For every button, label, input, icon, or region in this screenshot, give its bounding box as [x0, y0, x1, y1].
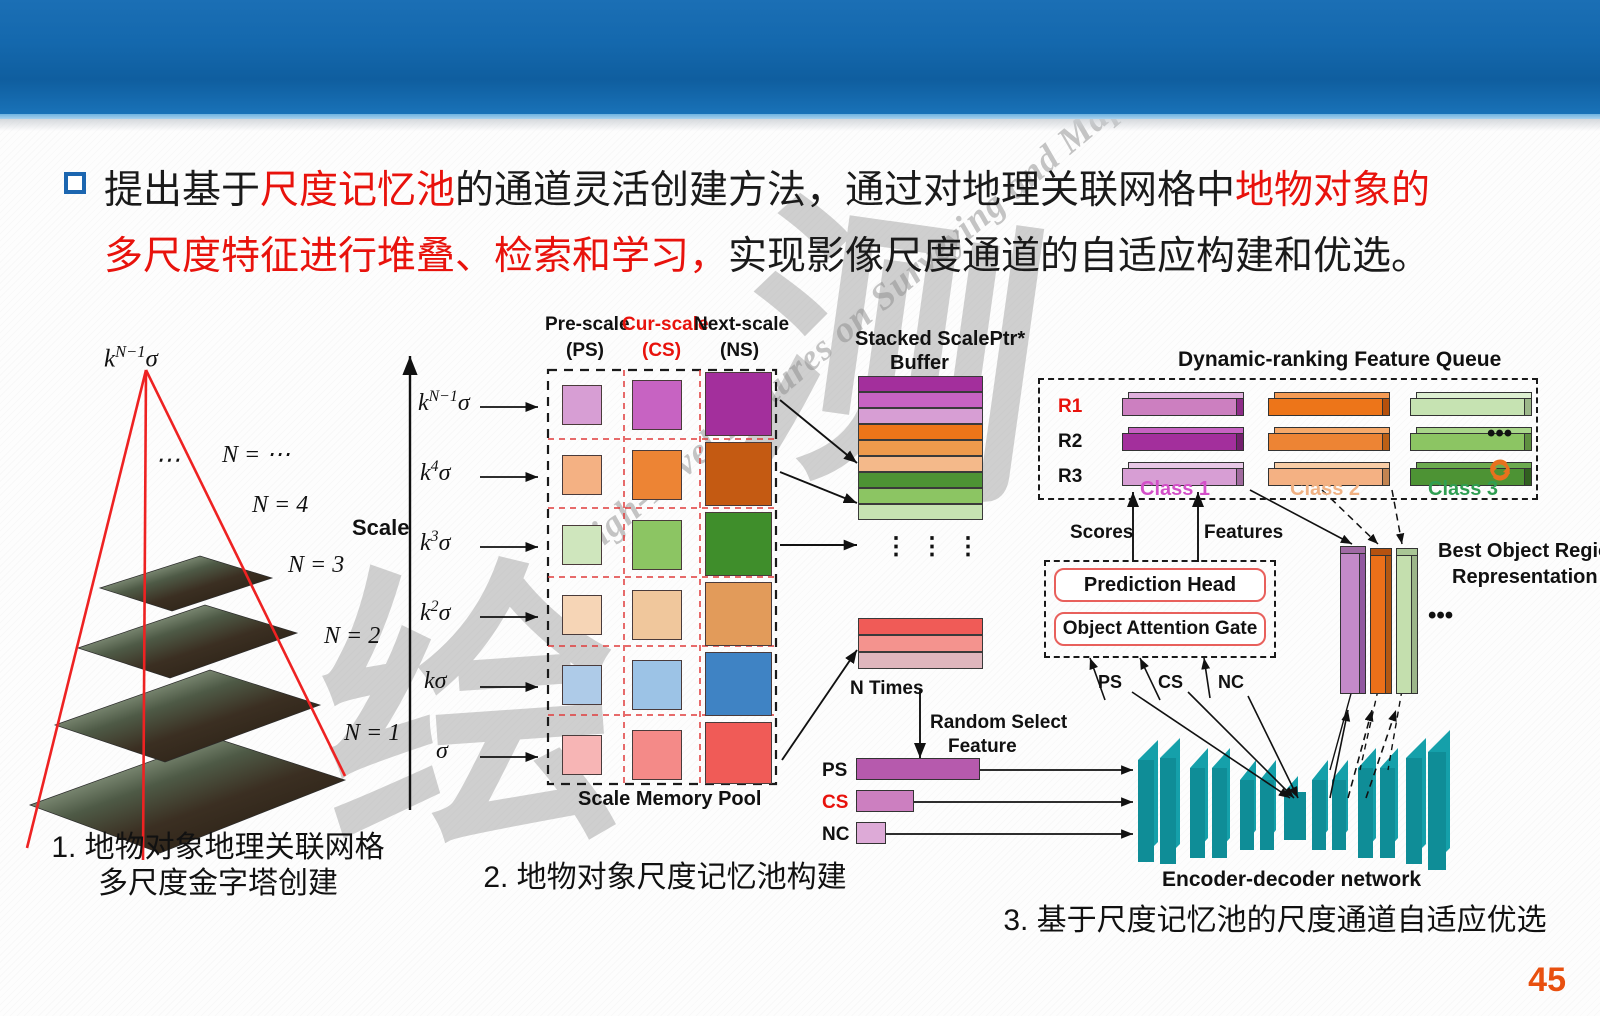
object-attention-gate-button[interactable]: Object Attention Gate: [1054, 612, 1266, 646]
refresh-icon[interactable]: [1485, 455, 1515, 485]
feature-queue-title: Dynamic-ranking Feature Queue: [1178, 348, 1501, 372]
title-bar-accent-line: [0, 114, 1600, 119]
buffer-bottom-stripe-1: [858, 635, 983, 652]
channel-bar-ps: [856, 758, 980, 780]
queue-bar-c1-r1: [1122, 392, 1244, 416]
buffer-stripe-3: [858, 424, 983, 440]
queue-rank-label-r2: R2: [1058, 431, 1082, 453]
best-region-title-line2: Representation: [1452, 566, 1598, 589]
body-seg-2: 尺度记忆池: [260, 169, 455, 212]
body-seg-3: 的通道灵活创建方法，通过对地理关联网格中: [455, 169, 1235, 212]
pool-cell-ps-5: [562, 735, 602, 775]
body-seg-6: 实现影像尺度通道的自适应构建和优选。: [728, 235, 1430, 278]
buffer-ellipsis-2: ⋮: [920, 532, 946, 561]
queue-bar-c2-r1: [1268, 392, 1390, 416]
body-seg-4: 地物对象的: [1235, 169, 1430, 212]
pool-cell-ns-5: [705, 722, 772, 784]
scale-axis-title: Scale: [352, 515, 410, 541]
pool-cell-ps-0: [562, 385, 602, 425]
buffer-stripe-8: [858, 504, 983, 520]
prediction-head-button[interactable]: Prediction Head: [1054, 568, 1266, 602]
scale-tick-5: σ: [436, 738, 448, 765]
queue-class-label-2: Class 2: [1290, 478, 1360, 501]
best-region-title-line1: Best Object Region: [1438, 540, 1600, 563]
queue-bar-c2-r2: [1268, 427, 1390, 451]
buffer-stripe-6: [858, 472, 983, 488]
features-label: Features: [1204, 522, 1283, 544]
pool-cell-ps-4: [562, 665, 602, 705]
pool-cell-cs-3: [632, 590, 682, 640]
slide-root: 测 绘 High-Level Lectures on Surveying and…: [0, 0, 1600, 1016]
queue-bar-c3-r1: [1410, 392, 1532, 416]
queue-more-dots: •••: [1487, 420, 1512, 448]
channel-label-nc: NC: [822, 824, 849, 846]
pool-cell-ps-1: [562, 455, 602, 495]
buffer-title-line2: Buffer: [890, 352, 949, 375]
pyramid-apex-label: kN−1σ: [104, 342, 158, 373]
pyramid-level-label-0: N = ⋯: [222, 440, 290, 469]
attention-input-label-cs: CS: [1158, 672, 1183, 693]
scale-tick-0: kN−1σ: [418, 388, 470, 417]
page-number: 45: [1528, 961, 1566, 1000]
buffer-stripe-4: [858, 440, 983, 456]
pool-cell-ns-0: [705, 372, 772, 436]
channel-label-cs: CS: [822, 792, 848, 814]
pyramid-level-label-1: N = 4: [252, 492, 308, 519]
pool-cell-ns-3: [705, 582, 772, 646]
queue-bar-c3-r2: [1410, 427, 1532, 451]
scale-tick-arrows: [480, 407, 538, 757]
pyramid-ellipsis: ⋯: [155, 445, 180, 475]
bullet-block: 提出基于尺度记忆池的通道灵活创建方法，通过对地理关联网格中地物对象的 多尺度特征…: [56, 158, 1556, 290]
pyramid-level-label-3: N = 2: [324, 623, 380, 650]
buffer-ellipsis-1: ⋮: [884, 532, 910, 561]
buffer-stripe-5: [858, 456, 983, 472]
n-times-label: N Times: [850, 678, 924, 700]
pyramid-group: [27, 370, 345, 860]
queue-rank-label-r1: R1: [1058, 396, 1082, 418]
queue-class-label-1: Class 1: [1140, 478, 1210, 501]
network-label: Encoder-decoder network: [1162, 868, 1421, 892]
body-seg-1: 提出基于: [104, 169, 260, 212]
buffer-bottom-stripe-0: [858, 618, 983, 635]
encoder-decoder-network: [1138, 730, 1450, 870]
caption-3-line1: 3. 基于尺度记忆池的尺度通道自适应优选: [955, 895, 1595, 939]
best-region-more-dots: •••: [1428, 602, 1453, 630]
body-seg-5: 多尺度特征进行堆叠、检索和学习，: [104, 235, 728, 278]
buffer-bottom-stripe-2: [858, 652, 983, 669]
pool-cell-cs-2: [632, 520, 682, 570]
pyramid-level-label-2: N = 3: [288, 552, 344, 579]
body-line-1: 提出基于尺度记忆池的通道灵活创建方法，通过对地理关联网格中地物对象的: [56, 158, 1556, 224]
pool-cell-cs-1: [632, 450, 682, 500]
pool-cell-ns-4: [705, 652, 772, 716]
best-region-bar-2: [1396, 548, 1418, 694]
random-select-line1: Random Select: [930, 712, 1067, 734]
scale-tick-2: k3σ: [420, 528, 450, 557]
title-bar: [0, 0, 1600, 114]
buffer-title-line1: Stacked ScalePtr*: [855, 328, 1025, 351]
pool-col-abbr-ps: (PS): [566, 340, 604, 362]
scale-tick-4: kσ: [424, 668, 447, 695]
caption-2-line1: 2. 地物对象尺度记忆池构建: [470, 852, 860, 896]
buffer-stripe-7: [858, 488, 983, 504]
pool-cell-ns-1: [705, 442, 772, 506]
buffer-ellipsis-3: ⋮: [956, 532, 982, 561]
title-bar-shadow: [0, 119, 1600, 131]
bullet-square-icon: [64, 172, 86, 194]
body-line-2: 多尺度特征进行堆叠、检索和学习，实现影像尺度通道的自适应构建和优选。: [56, 224, 1556, 290]
queue-bar-c1-r2: [1122, 427, 1244, 451]
pool-col-header-ps: Pre-scale: [545, 314, 630, 336]
pool-col-abbr-cs: (CS): [642, 340, 681, 362]
buffer-stripe-1: [858, 392, 983, 408]
buffer-stripe-0: [858, 376, 983, 392]
attention-input-label-ps: PS: [1098, 672, 1122, 693]
pool-cell-ps-2: [562, 525, 602, 565]
pool-col-header-ns: Next-scale: [694, 314, 789, 336]
pool-col-abbr-ns: (NS): [720, 340, 759, 362]
queue-rank-label-r3: R3: [1058, 466, 1082, 488]
pool-cell-cs-5: [632, 730, 682, 780]
random-select-line2: Feature: [948, 736, 1017, 758]
pyramid-level-label-4: N = 1: [344, 720, 400, 747]
memory-pool-title: Scale Memory Pool: [578, 788, 761, 811]
pool-cell-cs-0: [632, 380, 682, 430]
channel-bar-cs: [856, 790, 914, 812]
channel-label-ps: PS: [822, 760, 847, 782]
attention-input-label-nc: NC: [1218, 672, 1244, 693]
pool-cell-ns-2: [705, 512, 772, 576]
pool-cell-ps-3: [562, 595, 602, 635]
buffer-stripe-2: [858, 408, 983, 424]
scale-tick-3: k2σ: [420, 598, 450, 627]
channel-bar-nc: [856, 822, 886, 844]
best-region-bar-0: [1340, 546, 1366, 694]
scores-label: Scores: [1070, 522, 1133, 544]
scale-tick-1: k4σ: [420, 458, 450, 487]
caption-1-line2: 多尺度金字塔创建: [48, 858, 388, 902]
pool-cell-cs-4: [632, 660, 682, 710]
best-region-bar-1: [1370, 548, 1392, 694]
